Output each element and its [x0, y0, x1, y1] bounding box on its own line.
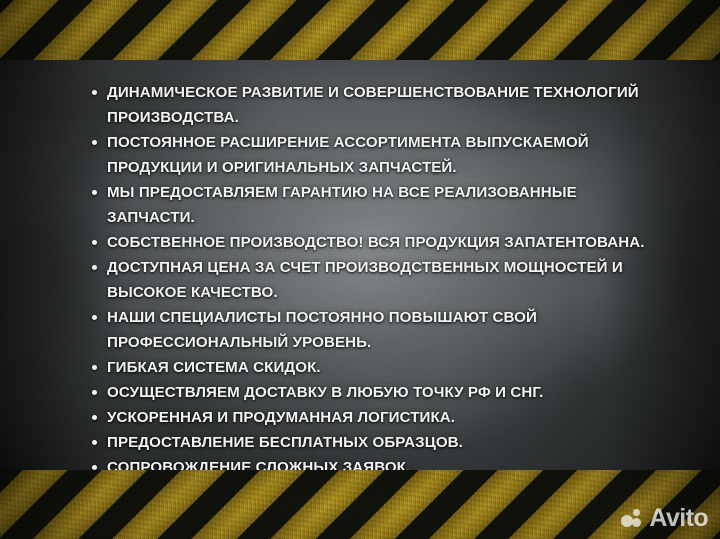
bullet-icon: [92, 415, 97, 420]
list-item-text: ПОСТОЯННОЕ РАСШИРЕНИЕ АССОРТИМЕНТА ВЫПУС…: [107, 134, 589, 176]
bullet-icon: [92, 390, 97, 395]
list-item-text: ДИНАМИЧЕСКОЕ РАЗВИТИЕ И СОВЕРШЕНСТВОВАНИ…: [107, 84, 639, 126]
list-item-text: УСКОРЕННАЯ И ПРОДУМАННАЯ ЛОГИСТИКА.: [107, 409, 455, 426]
avito-dot-small-icon: [633, 509, 640, 516]
list-item-text: НАШИ СПЕЦИАЛИСТЫ ПОСТОЯННО ПОВЫШАЮТ СВОЙ…: [107, 309, 537, 351]
hazard-stripe-band-bottom: [0, 470, 720, 539]
avito-watermark[interactable]: Avito: [621, 506, 708, 531]
list-item-text: ДОСТУПНАЯ ЦЕНА ЗА СЧЕТ ПРОИЗВОДСТВЕННЫХ …: [107, 259, 623, 301]
list-item: ОСУЩЕСТВЛЯЕМ ДОСТАВКУ В ЛЮБУЮ ТОЧКУ РФ И…: [88, 380, 650, 405]
list-item: ГИБКАЯ СИСТЕМА СКИДОК.: [88, 355, 650, 380]
bullet-icon: [92, 365, 97, 370]
list-item: ПРЕДОСТАВЛЕНИЕ БЕСПЛАТНЫХ ОБРАЗЦОВ.: [88, 430, 650, 455]
bullet-icon: [92, 440, 97, 445]
list-item-text: МЫ ПРЕДОСТАВЛЯЕМ ГАРАНТИЮ НА ВСЕ РЕАЛИЗО…: [107, 184, 577, 226]
avito-wordmark: Avito: [649, 506, 708, 531]
hazard-shade-top: [0, 0, 720, 60]
list-item-text: СОБСТВЕННОЕ ПРОИЗВОДСТВО! ВСЯ ПРОДУКЦИЯ …: [107, 234, 645, 251]
avito-dot-medium-icon: [632, 518, 641, 527]
list-item: МЫ ПРЕДОСТАВЛЯЕМ ГАРАНТИЮ НА ВСЕ РЕАЛИЗО…: [88, 180, 650, 230]
bullet-icon: [92, 240, 97, 245]
bullet-icon: [92, 315, 97, 320]
hazard-shade-bottom: [0, 470, 720, 539]
avito-logo-icon: [621, 508, 645, 530]
list-item: ПОСТОЯННОЕ РАСШИРЕНИЕ АССОРТИМЕНТА ВЫПУС…: [88, 130, 650, 180]
bullet-icon: [92, 265, 97, 270]
list-item: УСКОРЕННАЯ И ПРОДУМАННАЯ ЛОГИСТИКА.: [88, 405, 650, 430]
list-item-text: ГИБКАЯ СИСТЕМА СКИДОК.: [107, 359, 321, 376]
list-item: СОБСТВЕННОЕ ПРОИЗВОДСТВО! ВСЯ ПРОДУКЦИЯ …: [88, 230, 650, 255]
list-item-text: ОСУЩЕСТВЛЯЕМ ДОСТАВКУ В ЛЮБУЮ ТОЧКУ РФ И…: [107, 384, 543, 401]
list-item-text: ПРЕДОСТАВЛЕНИЕ БЕСПЛАТНЫХ ОБРАЗЦОВ.: [107, 434, 463, 451]
bullet-icon: [92, 90, 97, 95]
list-item: ДОСТУПНАЯ ЦЕНА ЗА СЧЕТ ПРОИЗВОДСТВЕННЫХ …: [88, 255, 650, 305]
bullet-icon: [92, 190, 97, 195]
list-item: ДИНАМИЧЕСКОЕ РАЗВИТИЕ И СОВЕРШЕНСТВОВАНИ…: [88, 80, 650, 130]
list-item: НАШИ СПЕЦИАЛИСТЫ ПОСТОЯННО ПОВЫШАЮТ СВОЙ…: [88, 305, 650, 355]
benefits-list: ДИНАМИЧЕСКОЕ РАЗВИТИЕ И СОВЕРШЕНСТВОВАНИ…: [88, 80, 650, 505]
bullet-icon: [92, 140, 97, 145]
hazard-stripe-band-top: [0, 0, 720, 60]
poster-canvas: ДИНАМИЧЕСКОЕ РАЗВИТИЕ И СОВЕРШЕНСТВОВАНИ…: [0, 0, 720, 539]
